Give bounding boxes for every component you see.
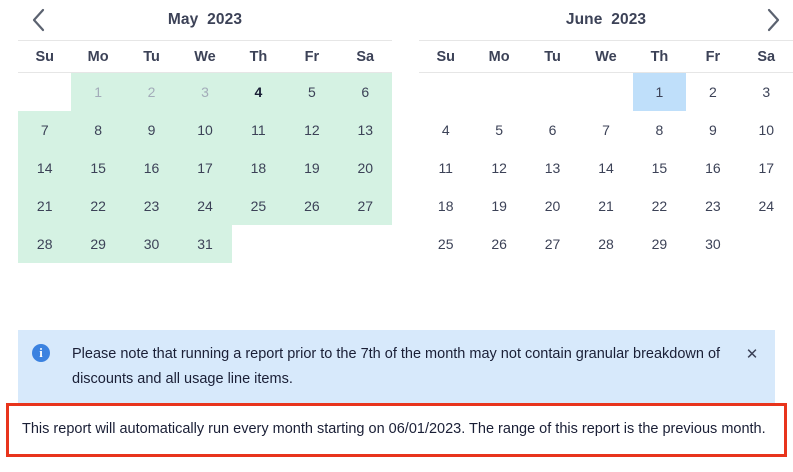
- calendar-day[interactable]: 28: [18, 225, 71, 263]
- calendar-day[interactable]: 10: [740, 111, 793, 149]
- calendar-day-empty: [339, 225, 392, 263]
- info-banner-message: Please note that running a report prior …: [50, 342, 743, 392]
- calendar-day[interactable]: 31: [178, 225, 231, 263]
- calendar-day[interactable]: 5: [472, 111, 525, 149]
- calendar-week-row: 21222324252627: [18, 187, 392, 225]
- calendar-day-empty: [472, 73, 525, 111]
- calendar-grid-left[interactable]: 1234567891011121314151617181920212223242…: [18, 73, 392, 263]
- close-icon[interactable]: ✕: [743, 345, 761, 363]
- weekday-tu: Tu: [125, 49, 178, 65]
- calendar-day[interactable]: 19: [472, 187, 525, 225]
- calendar-day[interactable]: 24: [740, 187, 793, 225]
- calendar-day[interactable]: 1: [633, 73, 686, 111]
- calendar-title-right: June 2023: [566, 11, 646, 29]
- calendar-day[interactable]: 13: [339, 111, 392, 149]
- calendar-day[interactable]: 20: [339, 149, 392, 187]
- chevron-left-icon[interactable]: [22, 4, 54, 36]
- report-schedule-note-text: This report will automatically run every…: [22, 416, 771, 442]
- weekday-sa: Sa: [740, 49, 793, 65]
- calendar-week-row: 45678910: [419, 111, 793, 149]
- calendar-day[interactable]: 12: [472, 149, 525, 187]
- calendar-day[interactable]: 29: [633, 225, 686, 263]
- calendar-day[interactable]: 25: [232, 187, 285, 225]
- calendar-day[interactable]: 8: [71, 111, 124, 149]
- calendar-day[interactable]: 23: [686, 187, 739, 225]
- calendar-day[interactable]: 18: [419, 187, 472, 225]
- calendar-day[interactable]: 6: [526, 111, 579, 149]
- chevron-right-icon[interactable]: [757, 4, 789, 36]
- calendar-day[interactable]: 13: [526, 149, 579, 187]
- calendar-day[interactable]: 23: [125, 187, 178, 225]
- calendar-day[interactable]: 21: [18, 187, 71, 225]
- calendar-day[interactable]: 17: [178, 149, 231, 187]
- calendar-day[interactable]: 10: [178, 111, 231, 149]
- weekday-fr: Fr: [686, 49, 739, 65]
- calendar-day[interactable]: 27: [339, 187, 392, 225]
- info-circle-icon: i: [32, 344, 50, 362]
- weekday-mo: Mo: [71, 49, 124, 65]
- calendar-day[interactable]: 25: [419, 225, 472, 263]
- calendar-day[interactable]: 11: [419, 149, 472, 187]
- calendar-week-row: 123456: [18, 73, 392, 111]
- calendar-header-right: June 2023: [419, 0, 793, 40]
- calendar-day-empty: [579, 73, 632, 111]
- weekday-header-right: Su Mo Tu We Th Fr Sa: [419, 40, 793, 73]
- calendar-grid-right[interactable]: 1234567891011121314151617181920212223242…: [419, 73, 793, 263]
- calendar-day-empty: [18, 73, 71, 111]
- calendar-day[interactable]: 27: [526, 225, 579, 263]
- calendar-header-left: May 2023: [18, 0, 392, 40]
- weekday-th: Th: [633, 49, 686, 65]
- calendar-title-left: May 2023: [168, 11, 242, 29]
- calendar-day[interactable]: 22: [633, 187, 686, 225]
- weekday-su: Su: [18, 49, 71, 65]
- weekday-fr: Fr: [285, 49, 338, 65]
- calendar-day[interactable]: 12: [285, 111, 338, 149]
- calendar-day[interactable]: 16: [125, 149, 178, 187]
- calendar-day[interactable]: 15: [71, 149, 124, 187]
- calendar-week-row: 11121314151617: [419, 149, 793, 187]
- calendar-day[interactable]: 1: [71, 73, 124, 111]
- calendar-day[interactable]: 2: [686, 73, 739, 111]
- calendar-day-empty: [526, 73, 579, 111]
- calendar-day[interactable]: 29: [71, 225, 124, 263]
- calendar-day[interactable]: 26: [285, 187, 338, 225]
- calendar-week-row: 28293031: [18, 225, 392, 263]
- calendar-day[interactable]: 24: [178, 187, 231, 225]
- info-banner: i Please note that running a report prio…: [18, 330, 775, 405]
- calendar-month-right[interactable]: June 2023 Su Mo Tu We Th Fr Sa 123456789…: [419, 0, 793, 300]
- calendar-day-empty: [740, 225, 793, 263]
- calendar-day[interactable]: 17: [740, 149, 793, 187]
- calendar-day[interactable]: 3: [178, 73, 231, 111]
- calendar-day-empty: [419, 73, 472, 111]
- calendar-day[interactable]: 11: [232, 111, 285, 149]
- calendar-day[interactable]: 5: [285, 73, 338, 111]
- weekday-we: We: [579, 49, 632, 65]
- calendar-day[interactable]: 4: [232, 73, 285, 111]
- calendar-day[interactable]: 18: [232, 149, 285, 187]
- calendar-month-left[interactable]: May 2023 Su Mo Tu We Th Fr Sa 1234567891…: [18, 0, 392, 300]
- calendar-week-row: 123: [419, 73, 793, 111]
- calendar-day[interactable]: 8: [633, 111, 686, 149]
- calendar-day[interactable]: 9: [686, 111, 739, 149]
- calendar-week-row: 78910111213: [18, 111, 392, 149]
- calendar-day[interactable]: 14: [18, 149, 71, 187]
- calendar-day[interactable]: 7: [18, 111, 71, 149]
- calendar-day[interactable]: 7: [579, 111, 632, 149]
- weekday-su: Su: [419, 49, 472, 65]
- calendar-week-row: 252627282930: [419, 225, 793, 263]
- calendar-day[interactable]: 22: [71, 187, 124, 225]
- weekday-we: We: [178, 49, 231, 65]
- weekday-th: Th: [232, 49, 285, 65]
- calendar-day[interactable]: 6: [339, 73, 392, 111]
- calendar-day[interactable]: 19: [285, 149, 338, 187]
- calendar-day[interactable]: 26: [472, 225, 525, 263]
- calendar-day-empty: [232, 225, 285, 263]
- calendar-week-row: 18192021222324: [419, 187, 793, 225]
- calendar-day[interactable]: 3: [740, 73, 793, 111]
- calendar-day[interactable]: 9: [125, 111, 178, 149]
- calendar-week-row: 14151617181920: [18, 149, 392, 187]
- calendar-day[interactable]: 30: [686, 225, 739, 263]
- calendar-day[interactable]: 30: [125, 225, 178, 263]
- calendar-day[interactable]: 15: [633, 149, 686, 187]
- calendar-day[interactable]: 4: [419, 111, 472, 149]
- weekday-sa: Sa: [339, 49, 392, 65]
- calendar-day-empty: [285, 225, 338, 263]
- calendar-day[interactable]: 14: [579, 149, 632, 187]
- weekday-mo: Mo: [472, 49, 525, 65]
- weekday-header-left: Su Mo Tu We Th Fr Sa: [18, 40, 392, 73]
- calendar-day[interactable]: 20: [526, 187, 579, 225]
- report-schedule-note: This report will automatically run every…: [6, 403, 787, 457]
- calendar-day[interactable]: 2: [125, 73, 178, 111]
- calendar-day[interactable]: 21: [579, 187, 632, 225]
- date-range-picker[interactable]: May 2023 Su Mo Tu We Th Fr Sa 1234567891…: [0, 0, 793, 312]
- weekday-tu: Tu: [526, 49, 579, 65]
- calendar-day[interactable]: 16: [686, 149, 739, 187]
- calendar-day[interactable]: 28: [579, 225, 632, 263]
